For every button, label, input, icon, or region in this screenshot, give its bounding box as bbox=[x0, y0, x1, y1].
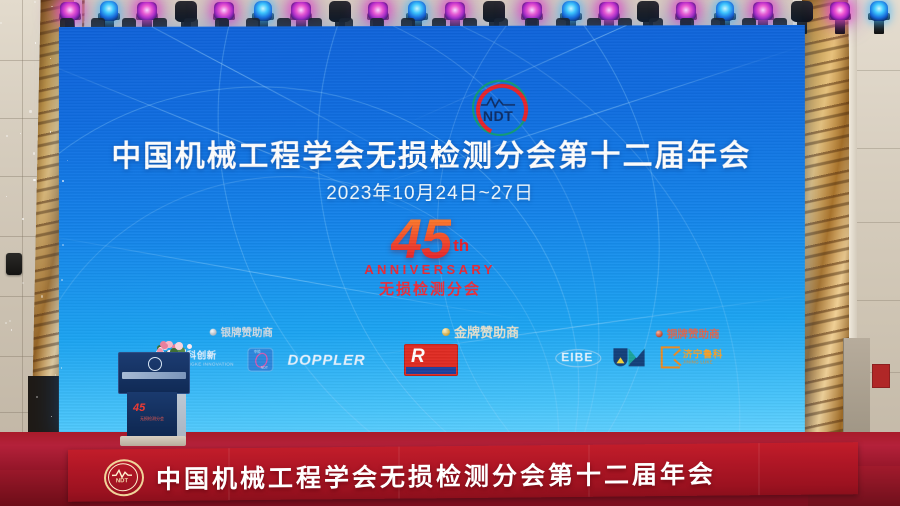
ceiling-sparkle bbox=[41, 295, 43, 297]
zhongjian-ndt-logo: 中检 NDT bbox=[248, 348, 274, 372]
ndt-logo: NDT bbox=[467, 78, 529, 136]
podium-lower-panel bbox=[127, 392, 177, 436]
ceiling-sparkle bbox=[62, 180, 64, 182]
podium-anniversary-sub: 无损检测分会 bbox=[127, 416, 177, 422]
luke-logo-en: JINING LUKE bbox=[683, 361, 723, 365]
anniversary-chinese: 无损检测分会 bbox=[59, 278, 805, 300]
banner-waveform-icon bbox=[112, 469, 132, 478]
wm-logo-right-icon bbox=[629, 348, 645, 366]
podium-title-text bbox=[122, 372, 186, 379]
podium-base bbox=[120, 436, 186, 446]
ceiling-sparkle bbox=[62, 244, 64, 246]
ceiling-sparkle bbox=[55, 374, 56, 375]
screen-date-subtitle: 2023年10月24日~27日 bbox=[59, 178, 805, 205]
flower-petal bbox=[187, 344, 193, 350]
silver-sponsor-label: 银牌赞助商 bbox=[210, 325, 273, 340]
wm-logo bbox=[613, 348, 644, 366]
stage-light-par bbox=[826, 0, 854, 34]
luke-logo-cn: 济宁鲁科 bbox=[683, 350, 723, 360]
anniversary-number: 45 bbox=[391, 212, 451, 266]
gold-sponsor-letter: R bbox=[411, 347, 424, 366]
flower-petal bbox=[161, 343, 168, 350]
eibe-logo: EIBE bbox=[557, 348, 597, 366]
podium-front-panel bbox=[118, 352, 190, 394]
speaker-podium: 45 无损检测分会 bbox=[118, 352, 188, 446]
conference-stage-photo: NDT 中国机械工程学会无损检测分会第十二届年会 2023年10月24日~27日… bbox=[0, 0, 900, 506]
ceiling-sparkle bbox=[6, 196, 7, 197]
ceiling-sparkle bbox=[33, 152, 35, 154]
ceiling-sparkle bbox=[29, 110, 31, 112]
gold-sponsor-logos: R bbox=[404, 344, 458, 376]
wm-logo-left-icon bbox=[613, 348, 627, 366]
luke-mark-icon bbox=[661, 346, 680, 368]
bronze-sponsor-logos: EIBE 济宁鲁科 JINING LUKE bbox=[557, 346, 723, 368]
beam-light-icon bbox=[870, 1, 888, 21]
banner-title: 中国机械工程学会无损检测分会第十二届年会 bbox=[156, 455, 716, 496]
silver-medal-icon bbox=[210, 329, 217, 336]
light-yoke bbox=[835, 18, 845, 34]
ceiling-sparkle bbox=[6, 135, 8, 137]
stage-light-beam bbox=[865, 0, 893, 34]
ceiling-sparkle bbox=[34, 1, 36, 3]
gold-sponsor-mark: R bbox=[404, 344, 458, 376]
flower-petal bbox=[175, 342, 183, 350]
ceiling-sparkle bbox=[50, 58, 51, 59]
banner-logo-text: NDT bbox=[104, 478, 140, 484]
podium-anniversary-number: 45 bbox=[133, 402, 145, 414]
ceiling-sparkle bbox=[33, 179, 35, 181]
bronze-sponsor-label: 铜牌赞助商 bbox=[656, 326, 720, 341]
zhongjian-logo-en: NDT bbox=[261, 366, 268, 370]
gold-sponsor-label: 金牌赞助商 bbox=[442, 322, 519, 341]
banner-ndt-logo: NDT bbox=[104, 459, 140, 492]
gold-sponsor-name-bar bbox=[406, 367, 456, 374]
wall-speaker bbox=[6, 253, 22, 275]
jining-luke-logo: 济宁鲁科 JINING LUKE bbox=[661, 346, 723, 368]
podium-ndt-icon bbox=[148, 357, 162, 371]
par-light-icon bbox=[830, 2, 850, 20]
anniversary-ordinal: th bbox=[453, 236, 469, 256]
bronze-medal-icon bbox=[656, 330, 663, 337]
doppler-logo: DOPPLER bbox=[288, 351, 366, 368]
wall-exit-sign bbox=[872, 364, 890, 388]
stage-front-banner: NDT 中国机械工程学会无损检测分会第十二届年会 bbox=[68, 442, 858, 502]
ceiling-sparkle bbox=[5, 322, 7, 324]
anniversary-logo: 45th ANNIVERSARY 无损检测分会 bbox=[59, 212, 805, 299]
screen-main-title: 中国机械工程学会无损检测分会第十二届年会 bbox=[59, 130, 805, 175]
gold-medal-icon bbox=[442, 328, 450, 336]
ndt-logo-text: NDT bbox=[467, 108, 529, 124]
ceiling-sparkle bbox=[36, 396, 38, 398]
